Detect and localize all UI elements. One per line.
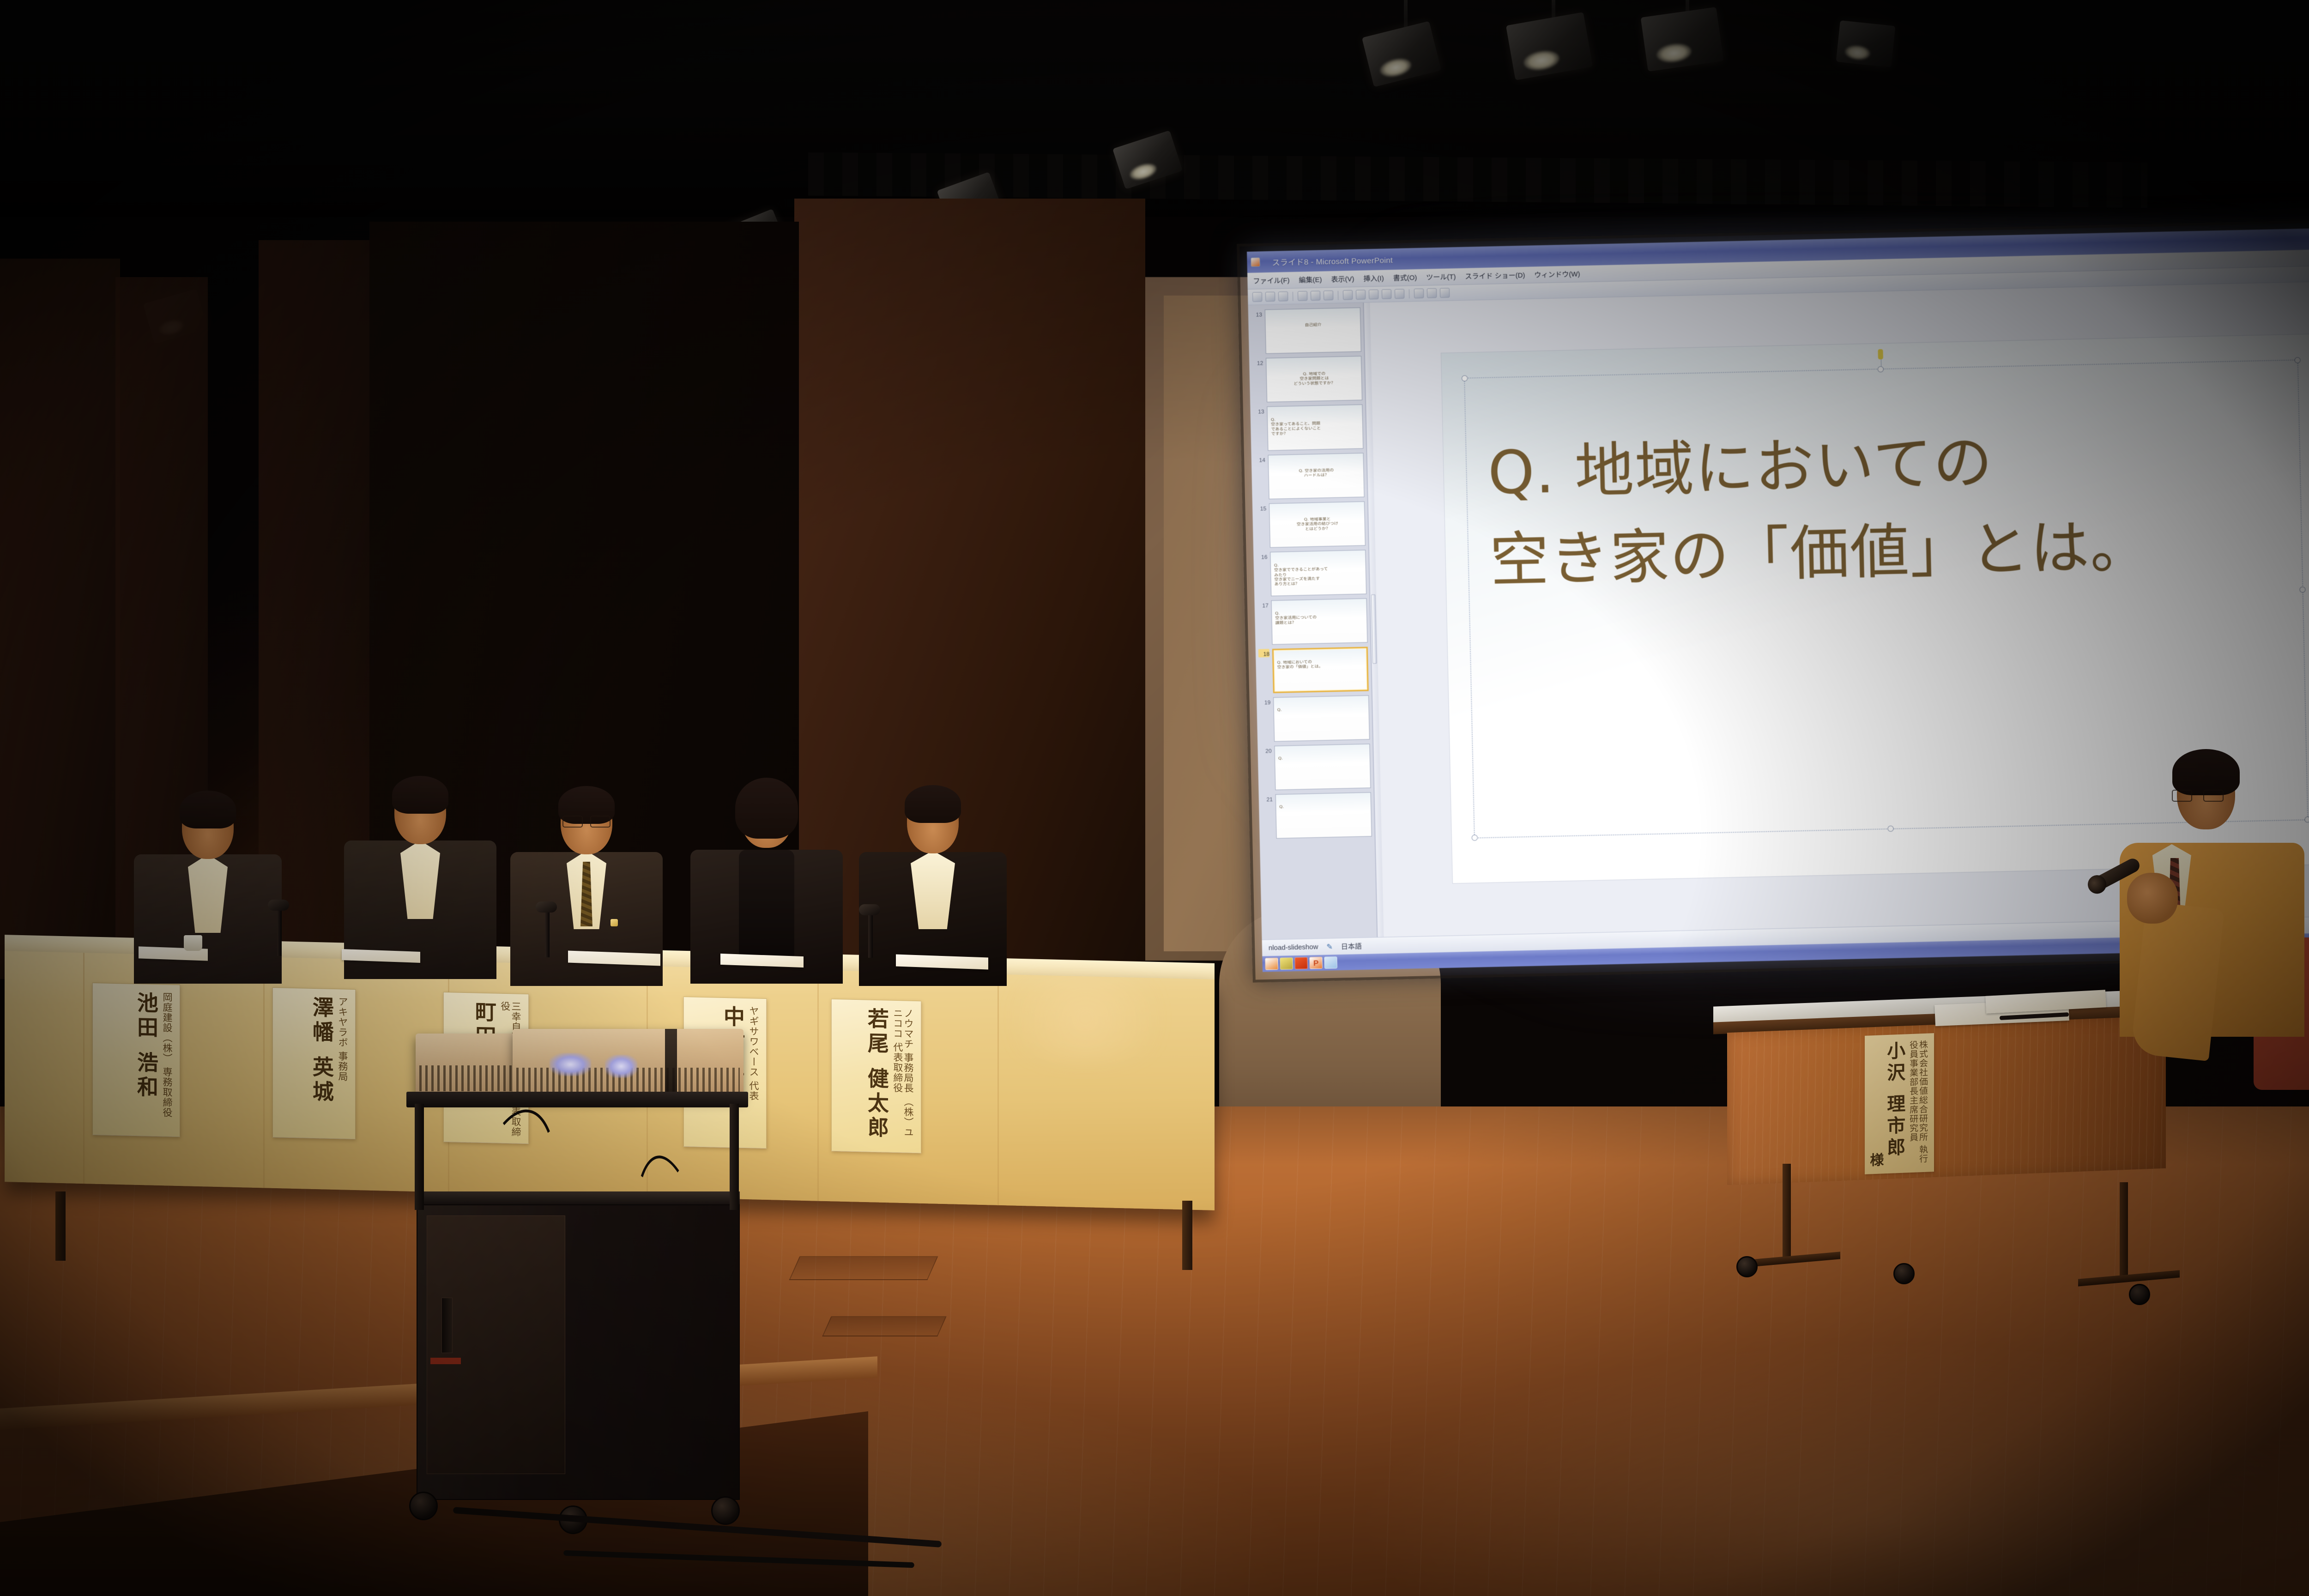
panelist-hair bbox=[905, 785, 961, 823]
panelist-wakao bbox=[854, 780, 1011, 984]
skirt-fold bbox=[263, 957, 265, 1188]
resize-handle[interactable] bbox=[2294, 357, 2300, 363]
resize-handle[interactable] bbox=[2299, 586, 2305, 592]
lapel-pin-icon bbox=[610, 919, 618, 926]
moderator-table-foot bbox=[2078, 1270, 2180, 1286]
nameplate-name: 若尾 健太郎 bbox=[864, 1007, 889, 1141]
nameplate-wakao: ノウマチ 事務局長 （株）ユニココ 代表取締役 若尾 健太郎 bbox=[831, 999, 921, 1153]
slide-thumbnail-row[interactable]: 14 Q. 空き家の活用の ハードルは？ bbox=[1254, 453, 1365, 500]
slide-number: 13 bbox=[1251, 309, 1262, 318]
table-mic-stand bbox=[545, 907, 550, 957]
nameplate-honorific: 様 bbox=[1868, 1152, 1883, 1167]
toolbar-separator bbox=[1293, 291, 1293, 301]
save-icon[interactable] bbox=[1278, 291, 1288, 301]
table-mic-head bbox=[536, 901, 557, 913]
moderator-hand bbox=[2127, 873, 2178, 924]
slide-thumbnail-text: Q. bbox=[1278, 755, 1367, 761]
slide-body-text[interactable]: Q. 地域においての 空き家の「価値」とは。 bbox=[1487, 412, 2297, 605]
slide-thumbnail-text: Q. 地域においての 空き家の「価値」とは。 bbox=[1277, 659, 1364, 670]
moderator-table-leg bbox=[2120, 1182, 2128, 1279]
slide-thumbnail[interactable]: Q. 空き家ってあること、問題 であることによくないこと ですか？ bbox=[1267, 405, 1363, 451]
slide-thumbnail-text: Q. 空き家でできることがあって みたり 空き家でニーズを満たす あり方とは？ bbox=[1274, 562, 1363, 587]
moderator-table-caster bbox=[1736, 1256, 1758, 1277]
panelist-inner-tee bbox=[739, 850, 794, 961]
moderator-table-caster bbox=[2129, 1284, 2150, 1305]
statusbar-filename: nload-slideshow bbox=[1269, 943, 1318, 952]
menu-item-view[interactable]: 表示(V) bbox=[1331, 274, 1354, 284]
av-cart-top-shelf bbox=[406, 1092, 748, 1107]
insert-table-icon[interactable] bbox=[1414, 289, 1424, 298]
scrollbar-thumb[interactable] bbox=[1371, 594, 1377, 664]
menu-item-window[interactable]: ウィンドウ(W) bbox=[1534, 269, 1580, 279]
panelist-shirt bbox=[400, 840, 440, 919]
slide-number: 14 bbox=[1254, 455, 1265, 464]
folder-icon[interactable] bbox=[1280, 957, 1293, 970]
slide-number: 18 bbox=[1258, 649, 1269, 658]
ime-pen-icon[interactable]: ✎ bbox=[1326, 942, 1333, 951]
window-title: スライド8 - Microsoft PowerPoint bbox=[1272, 254, 1393, 268]
nameplate-title: 株式会社価値総合研究所 執行役員事業部長主席研究員 bbox=[1908, 1040, 1928, 1167]
menu-item-insert[interactable]: 挿入(I) bbox=[1363, 273, 1384, 284]
nameplate-name: 池田 浩和 bbox=[134, 991, 158, 1100]
toolbar-separator bbox=[1409, 289, 1409, 298]
nameplate-ikeda: 岡庭建設（株） 専務取締役 池田 浩和 bbox=[92, 983, 180, 1137]
nameplate-title: ノウマチ 事務局長 （株）ユニココ 代表取締役 bbox=[892, 1008, 913, 1147]
panel-table-leg bbox=[1182, 1201, 1192, 1270]
menu-item-slideshow[interactable]: スライド ショー(D) bbox=[1465, 270, 1525, 281]
slide-thumbnail-row[interactable]: 17 Q. 空き家活用についての 課題とは？ bbox=[1257, 598, 1367, 645]
panel-table-leg bbox=[55, 1191, 66, 1261]
zoom-icon[interactable] bbox=[1440, 288, 1450, 297]
av-cart-handle[interactable] bbox=[441, 1298, 453, 1353]
table-mic-head bbox=[268, 900, 289, 911]
menu-item-file[interactable]: ファイル(F) bbox=[1253, 275, 1290, 286]
menu-item-tools[interactable]: ツール(T) bbox=[1426, 272, 1456, 282]
slide-thumbnail-row[interactable]: 19 Q. bbox=[1259, 695, 1370, 742]
resize-handle[interactable] bbox=[1471, 834, 1477, 840]
toolbar-separator bbox=[1338, 290, 1338, 300]
slide-thumbnail[interactable]: Q. bbox=[1273, 695, 1370, 741]
moderator-arm bbox=[2130, 901, 2224, 1061]
moderator-person bbox=[2046, 734, 2309, 1104]
resize-handle[interactable] bbox=[1461, 375, 1467, 381]
skirt-fold bbox=[817, 970, 819, 1201]
start-orb-icon[interactable] bbox=[1265, 958, 1278, 970]
slide-thumbnail-selected[interactable]: Q. 地域においての 空き家の「価値」とは。 bbox=[1272, 647, 1369, 693]
menu-item-edit[interactable]: 編集(E) bbox=[1299, 274, 1322, 284]
slide-number: 21 bbox=[1262, 794, 1273, 803]
nameplate-ozawa: 株式会社価値総合研究所 執行役員事業部長主席研究員 小沢 理市郎 様 bbox=[1865, 1033, 1934, 1174]
open-icon[interactable] bbox=[1265, 292, 1275, 302]
glasses-icon bbox=[562, 816, 610, 826]
moderator-hair bbox=[2172, 749, 2240, 795]
slide-thumbnail-row[interactable]: 13 自己紹介 bbox=[1251, 308, 1361, 354]
floor-hatch bbox=[822, 1316, 947, 1336]
table-mic-head bbox=[859, 904, 880, 915]
slide-thumbnail-row[interactable]: 13 Q. 空き家ってあること、問題 であることによくないこと ですか？ bbox=[1253, 405, 1363, 451]
media-icon[interactable] bbox=[1324, 956, 1337, 969]
slide-thumbnail[interactable]: Q. 空き家の活用の ハードルは？ bbox=[1268, 453, 1365, 499]
glasses-icon bbox=[2172, 790, 2224, 800]
slide-thumbnail-row[interactable]: 20 Q. bbox=[1260, 744, 1371, 790]
slide-thumbnail-text: Q. 地域での 空き家問題とは どういう状態ですか？ bbox=[1270, 371, 1359, 387]
panelist-hair bbox=[735, 778, 798, 839]
projector-strap bbox=[665, 1029, 677, 1098]
stage-light-fixture bbox=[1641, 7, 1724, 72]
spellcheck-icon[interactable] bbox=[1324, 290, 1333, 300]
skirt-fold bbox=[83, 953, 85, 1184]
panelist-hair bbox=[180, 791, 236, 828]
projector-main bbox=[513, 1029, 743, 1098]
slide-thumbnail-row[interactable]: 21 Q. bbox=[1262, 792, 1372, 839]
panelist-machida bbox=[508, 780, 665, 979]
new-icon[interactable] bbox=[1252, 292, 1262, 302]
table-mic-stand bbox=[868, 910, 873, 958]
stage-photo-scene: スライド8 - Microsoft PowerPoint ファイル(F) 編集(… bbox=[0, 0, 2309, 1596]
menu-item-format[interactable]: 書式(O) bbox=[1393, 272, 1417, 283]
projector-lamp-glow bbox=[605, 1055, 637, 1078]
paste-icon[interactable] bbox=[1369, 290, 1378, 299]
projector-lamp-glow bbox=[550, 1053, 591, 1076]
insert-chart-icon[interactable] bbox=[1427, 288, 1437, 298]
slide-thumbnail[interactable]: Q. 空き家活用についての 課題とは？ bbox=[1271, 598, 1367, 645]
table-highlight bbox=[988, 974, 1182, 1062]
slide-thumbnail-text: Q. bbox=[1279, 803, 1368, 810]
slide-number: 17 bbox=[1257, 600, 1268, 609]
slide-thumbnail[interactable]: Q. bbox=[1274, 744, 1371, 790]
panelist-sawahata bbox=[342, 771, 499, 979]
slide-thumbnail-text: Q. bbox=[1277, 706, 1366, 713]
cut-icon[interactable] bbox=[1343, 290, 1353, 300]
slide-thumbnail-text: 自己紹介 bbox=[1269, 322, 1357, 328]
drinking-cup bbox=[184, 935, 202, 951]
undo-icon[interactable] bbox=[1382, 289, 1391, 299]
stage-flat bbox=[0, 259, 120, 979]
ime-language-label[interactable]: 日本語 bbox=[1341, 941, 1362, 951]
slide-thumbnail-row[interactable]: 15 Q. 地域事業と 空き家活用の結びつけ とはどうか？ bbox=[1255, 502, 1366, 548]
slide-number: 19 bbox=[1259, 697, 1270, 706]
moderator-table-leg bbox=[1783, 1164, 1791, 1261]
panelist-hair bbox=[392, 776, 448, 814]
nameplate-name: 澤幡 英城 bbox=[309, 996, 333, 1105]
powerpoint-icon[interactable] bbox=[1309, 957, 1323, 969]
print-icon[interactable] bbox=[1298, 291, 1307, 301]
slide-number: 15 bbox=[1255, 503, 1266, 512]
slide-thumbnail[interactable]: 自己紹介 bbox=[1265, 308, 1361, 354]
nameplate-title: アキヤラボ 事務局 bbox=[337, 997, 348, 1082]
nameplate-title: 岡庭建設（株） 専務取締役 bbox=[162, 992, 172, 1118]
moderator-table-caster bbox=[1893, 1263, 1915, 1284]
nameplate-sawahata: アキヤラボ 事務局 澤幡 英城 bbox=[272, 987, 356, 1139]
slide-number: 16 bbox=[1256, 552, 1267, 561]
slide-thumbnail[interactable]: Q. 空き家でできることがあって みたり 空き家でニーズを満たす あり方とは？ bbox=[1270, 550, 1366, 596]
resize-handle[interactable] bbox=[1878, 366, 1884, 372]
slide-thumbnail-row[interactable]: 16 Q. 空き家でできることがあって みたり 空き家でニーズを満たす あり方と… bbox=[1256, 550, 1366, 597]
resize-handle[interactable] bbox=[1887, 826, 1893, 832]
slide-thumbnail-text: Q. 地域事業と 空き家活用の結びつけ とはどうか？ bbox=[1273, 516, 1362, 532]
slide-number: 12 bbox=[1252, 358, 1263, 367]
panelist-nakamura bbox=[688, 776, 845, 979]
slide-thumbnail[interactable]: Q. 地域での 空き家問題とは どういう状態ですか？ bbox=[1266, 356, 1362, 402]
app-red-icon[interactable] bbox=[1294, 957, 1308, 969]
slide-number: 13 bbox=[1253, 406, 1264, 415]
powerpoint-app-icon bbox=[1251, 257, 1260, 266]
slide-thumbnail-row[interactable]: 12 Q. 地域での 空き家問題とは どういう状態ですか？ bbox=[1252, 356, 1362, 403]
table-mic-stand bbox=[277, 905, 282, 956]
slide-thumbnail-text: Q. 空き家ってあること、問題 であることによくないこと ですか？ bbox=[1271, 416, 1360, 437]
floor-hatch bbox=[789, 1256, 938, 1280]
copy-icon[interactable] bbox=[1356, 290, 1366, 299]
stage-light-fixture bbox=[1836, 20, 1896, 67]
slide-thumbnail-panel[interactable]: 13 自己紹介 12 Q. 地域での 空き家問題とは どういう状態ですか？ 13 bbox=[1248, 303, 1378, 940]
redo-icon[interactable] bbox=[1395, 289, 1404, 299]
slide-thumbnail-row-selected[interactable]: 18 Q. 地域においての 空き家の「価値」とは。 bbox=[1258, 647, 1369, 693]
av-cart-red-stripe bbox=[430, 1358, 461, 1364]
preview-icon[interactable] bbox=[1311, 291, 1320, 301]
av-cart-caster bbox=[711, 1496, 740, 1525]
av-cart-caster bbox=[409, 1492, 438, 1520]
slide-thumbnail[interactable]: Q. bbox=[1275, 792, 1372, 838]
slide-thumbnail-text: Q. 空き家活用についての 課題とは？ bbox=[1275, 610, 1364, 626]
slide-thumbnail[interactable]: Q. 地域事業と 空き家活用の結びつけ とはどうか？ bbox=[1269, 502, 1366, 548]
nameplate-name: 小沢 理市郎 bbox=[1884, 1041, 1904, 1167]
av-cart-leg bbox=[730, 1104, 739, 1210]
panelist-shirt bbox=[911, 851, 955, 929]
rotate-handle-icon[interactable] bbox=[1878, 349, 1883, 359]
panelist-shirt bbox=[188, 854, 228, 933]
slide-thumbnail-text: Q. 空き家の活用の ハードルは？ bbox=[1272, 468, 1360, 479]
av-cart-leg bbox=[415, 1104, 424, 1210]
slide-number: 20 bbox=[1260, 746, 1271, 755]
